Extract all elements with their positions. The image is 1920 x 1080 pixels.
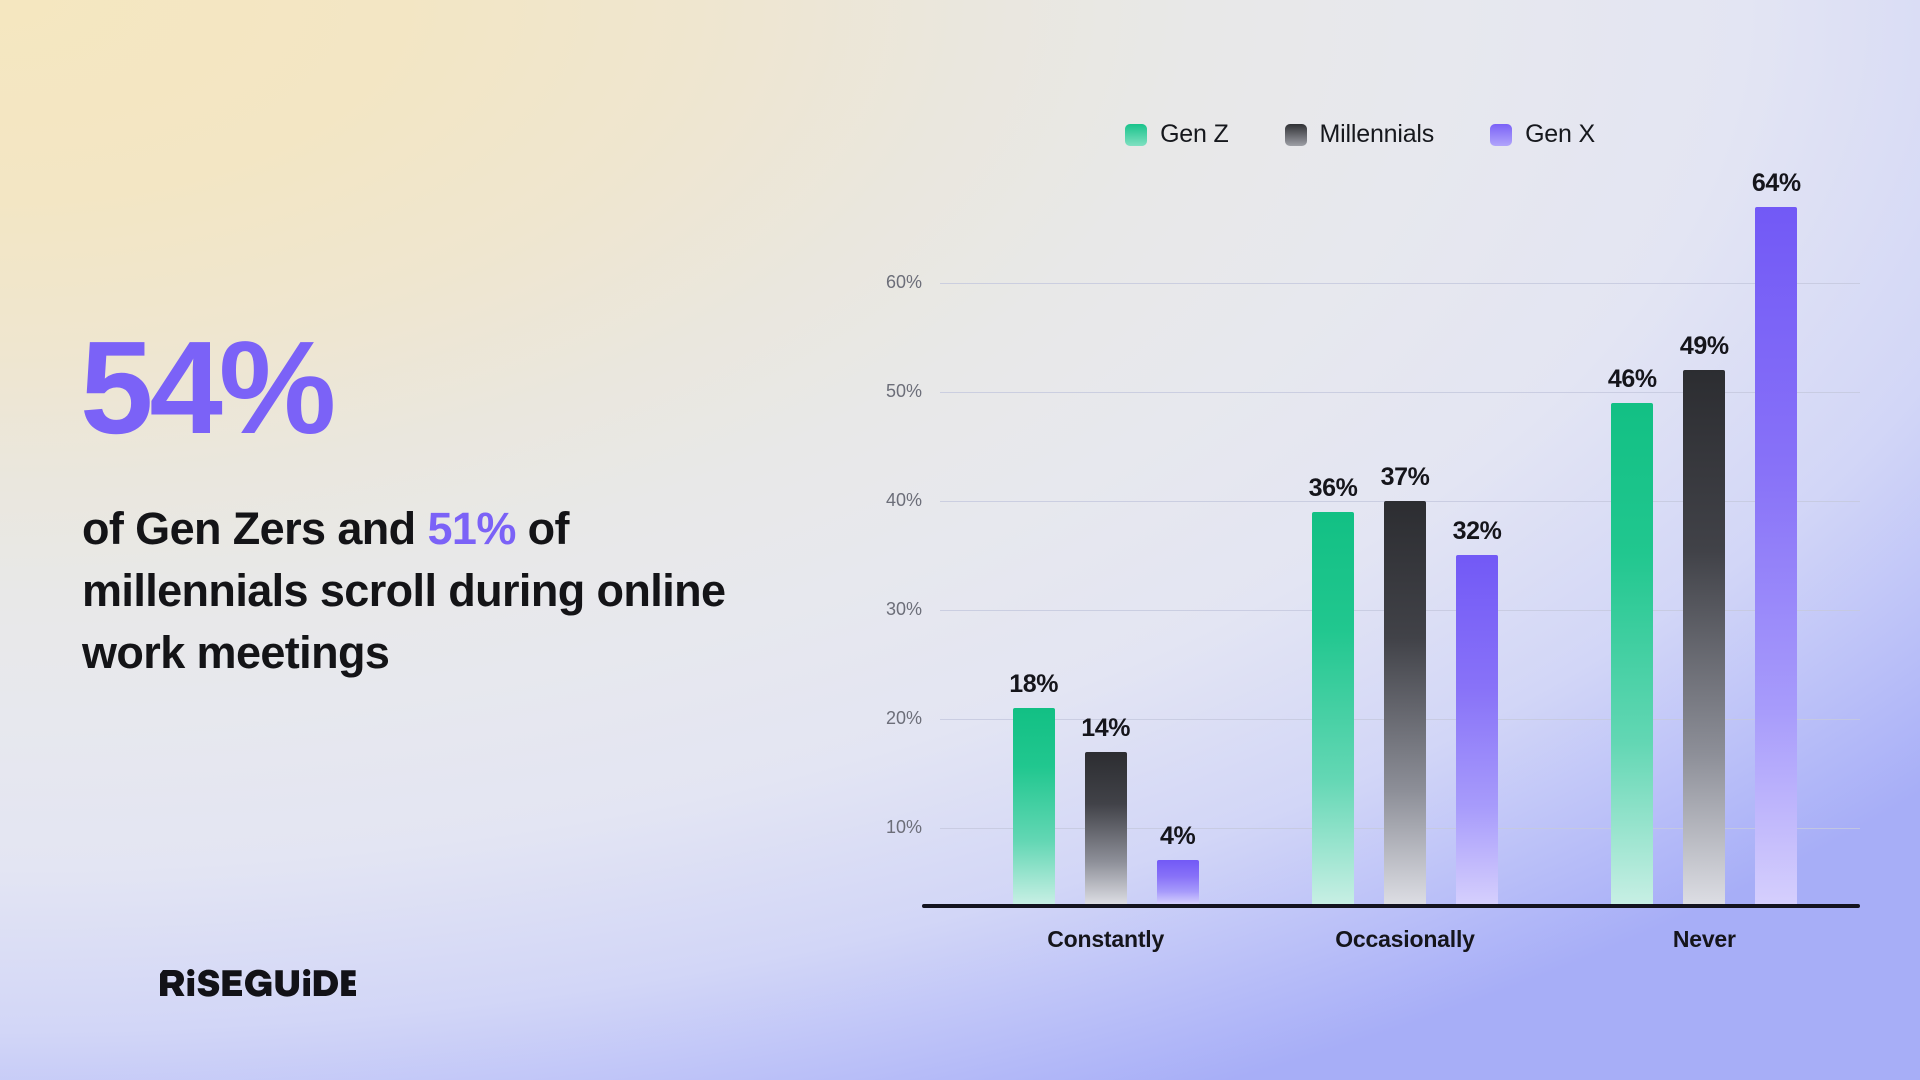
legend-swatch-icon-gen-z: [1125, 124, 1147, 146]
left-text-panel: 54% of Gen Zers and 51% of millennials s…: [80, 0, 800, 1080]
riseguide-wordmark-icon: [160, 968, 356, 1002]
y-axis-tick-20: 20%: [860, 708, 922, 729]
chart-legend: Gen Z Millennials Gen X: [860, 120, 1860, 149]
legend-item-gen-x[interactable]: Gen X: [1490, 120, 1595, 149]
bar-group-occasionally: 36% 37% 32%: [1312, 178, 1498, 904]
bar-value-constantly-gen-z: 18%: [1009, 670, 1058, 699]
bar-constantly-gen-z[interactable]: 18%: [1013, 708, 1055, 904]
bar-groups: 18% 14% 4%: [956, 178, 1854, 904]
legend-label-gen-z: Gen Z: [1160, 120, 1228, 149]
legend-swatch-icon-gen-x: [1490, 124, 1512, 146]
bar-never-millennials[interactable]: 49%: [1683, 370, 1725, 904]
x-axis-label-occasionally: Occasionally: [1305, 926, 1505, 953]
x-axis-label-never: Never: [1604, 926, 1804, 953]
bar-constantly-millennials[interactable]: 14%: [1085, 752, 1127, 904]
bar-value-constantly-gen-x: 4%: [1160, 822, 1195, 851]
bar-chart: Gen Z Millennials Gen X 60% 50%: [860, 60, 1860, 1020]
bar-value-never-gen-z: 46%: [1608, 365, 1657, 394]
x-axis-labels: Constantly Occasionally Never: [956, 926, 1854, 953]
big-stat-value: 54%: [80, 322, 332, 454]
bar-occasionally-gen-z[interactable]: 36%: [1312, 512, 1354, 904]
y-axis-tick-60: 60%: [860, 272, 922, 293]
x-axis-line: [922, 904, 1860, 908]
headline-text: of Gen Zers and 51% of millennials scrol…: [82, 498, 742, 684]
legend-label-gen-x: Gen X: [1525, 120, 1595, 149]
bar-wrap-never-millennials: 49%: [1683, 178, 1725, 904]
bar-value-never-gen-x: 64%: [1752, 169, 1801, 198]
bar-wrap-constantly-gen-z: 18%: [1013, 178, 1055, 904]
legend-item-gen-z[interactable]: Gen Z: [1125, 120, 1228, 149]
headline-part-1: of Gen Zers and: [82, 503, 427, 554]
bar-value-occasionally-gen-z: 36%: [1309, 474, 1358, 503]
bar-value-constantly-millennials: 14%: [1081, 714, 1130, 743]
bar-wrap-occasionally-millennials: 37%: [1384, 178, 1426, 904]
bar-occasionally-millennials[interactable]: 37%: [1384, 501, 1426, 904]
bar-constantly-gen-x[interactable]: 4%: [1157, 860, 1199, 904]
y-axis-tick-10: 10%: [860, 817, 922, 838]
bar-wrap-constantly-gen-x: 4%: [1157, 178, 1199, 904]
bar-value-occasionally-millennials: 37%: [1381, 463, 1430, 492]
bar-wrap-never-gen-x: 64%: [1755, 178, 1797, 904]
bar-wrap-occasionally-gen-x: 32%: [1456, 178, 1498, 904]
bar-group-never: 46% 49% 64%: [1611, 178, 1797, 904]
y-axis-tick-50: 50%: [860, 381, 922, 402]
bar-occasionally-gen-x[interactable]: 32%: [1456, 555, 1498, 904]
legend-swatch-icon-millennials: [1285, 124, 1307, 146]
infographic-canvas: 54% of Gen Zers and 51% of millennials s…: [0, 0, 1920, 1080]
legend-item-millennials[interactable]: Millennials: [1285, 120, 1435, 149]
x-axis-label-constantly: Constantly: [1006, 926, 1206, 953]
plot-area: 60% 50% 40% 30% 20%: [860, 178, 1860, 908]
bar-group-constantly: 18% 14% 4%: [1013, 178, 1199, 904]
bar-wrap-constantly-millennials: 14%: [1085, 178, 1127, 904]
legend-label-millennials: Millennials: [1320, 120, 1435, 149]
bar-wrap-occasionally-gen-z: 36%: [1312, 178, 1354, 904]
y-axis-tick-30: 30%: [860, 599, 922, 620]
riseguide-logo: [160, 962, 356, 1002]
bar-never-gen-x[interactable]: 64%: [1755, 207, 1797, 904]
y-axis-tick-40: 40%: [860, 490, 922, 511]
bar-value-never-millennials: 49%: [1680, 332, 1729, 361]
headline-accent-value: 51%: [427, 503, 515, 554]
bar-never-gen-z[interactable]: 46%: [1611, 403, 1653, 904]
bar-value-occasionally-gen-x: 32%: [1453, 517, 1502, 546]
bar-wrap-never-gen-z: 46%: [1611, 178, 1653, 904]
